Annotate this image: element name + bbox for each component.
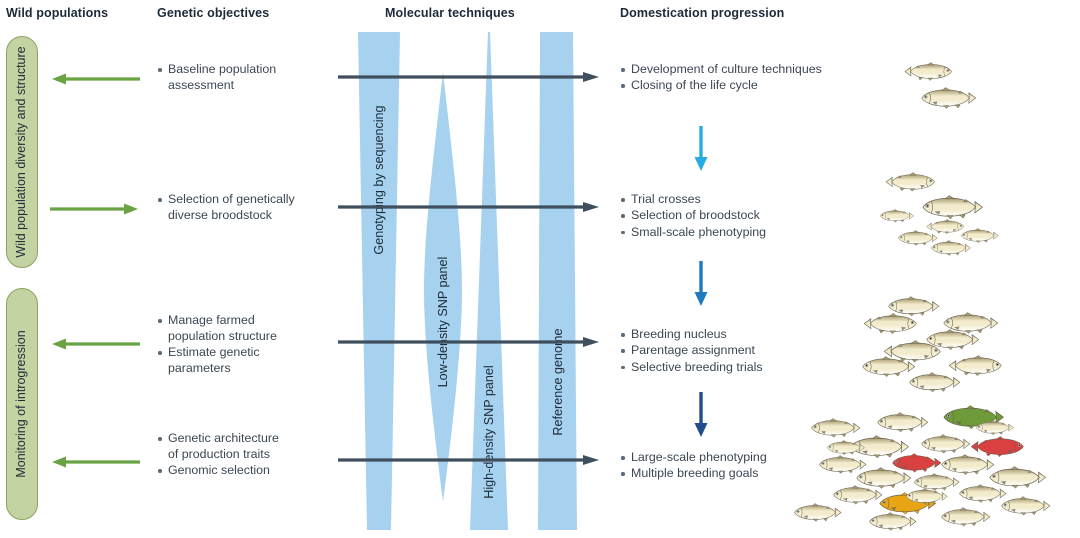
fish-icon (832, 485, 884, 505)
fish-icon (868, 512, 918, 531)
fish-icon (884, 172, 936, 192)
fish-icon (908, 372, 962, 393)
fish-icon (793, 503, 843, 522)
fish-illustration-layer (0, 0, 1080, 538)
fish-icon (905, 488, 949, 505)
fish-icon (975, 420, 1015, 435)
fish-icon (940, 507, 992, 527)
fish-icon (879, 209, 915, 223)
fish-icon (876, 412, 930, 433)
fish-icon (862, 313, 918, 334)
fish-icon (1000, 496, 1052, 516)
fish-icon (921, 195, 985, 219)
fish-icon (930, 240, 972, 256)
fish-icon (826, 440, 866, 455)
fish-icon (920, 434, 972, 454)
fish-icon (903, 62, 953, 81)
figure-canvas: Wild populations Genetic objectives Mole… (0, 0, 1080, 538)
fish-icon (920, 87, 978, 109)
